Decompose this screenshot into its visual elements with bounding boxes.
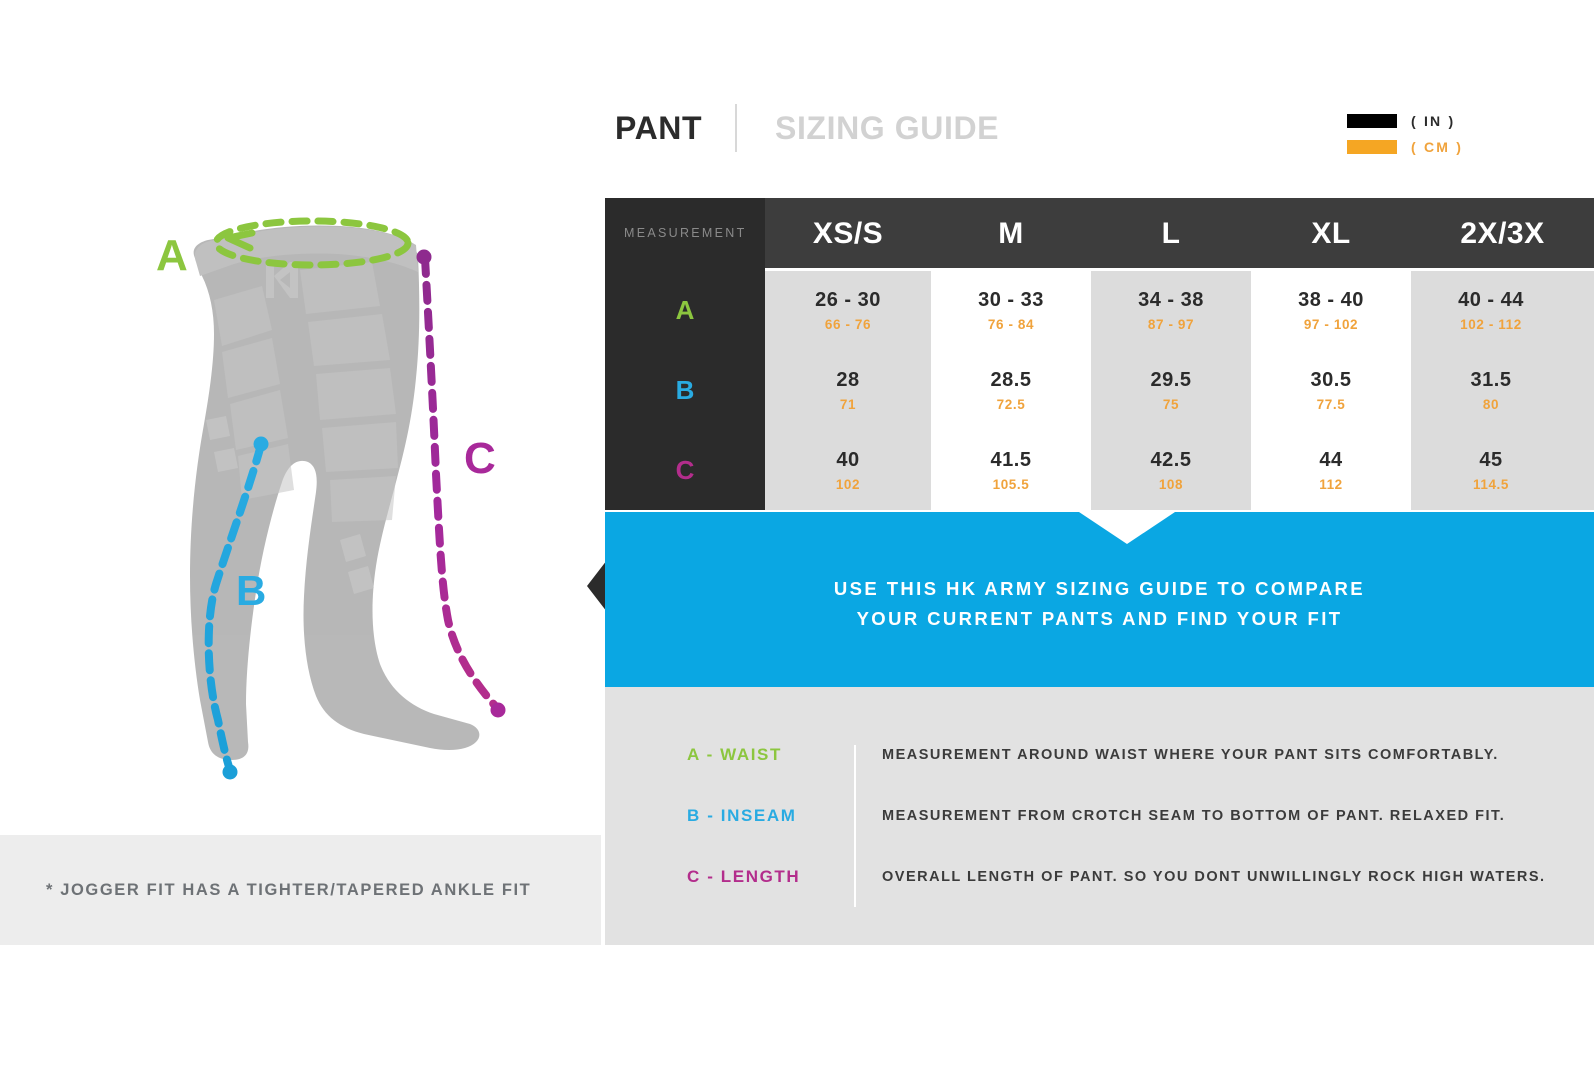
jogger-fit-footnote: * JOGGER FIT HAS A TIGHTER/TAPERED ANKLE… xyxy=(46,881,531,900)
cell-c-m: 41.5 105.5 xyxy=(931,430,1091,510)
inches-label: ( IN ) xyxy=(1411,113,1455,129)
description-text-a: MEASUREMENT AROUND WAIST WHERE YOUR PANT… xyxy=(882,747,1499,763)
diagram-letter-b: B xyxy=(236,570,266,612)
cell-value-cm: 105.5 xyxy=(993,478,1030,492)
size-header-2x-3x: 2X/3X xyxy=(1411,198,1594,270)
cell-value-in: 34 - 38 xyxy=(1138,289,1204,311)
size-chart-table: XS/S M L XL 2X/3X MEASUREMENT A B C 26 -… xyxy=(605,198,1594,510)
pant-diagram: A B C xyxy=(0,0,601,835)
cell-value-cm: 71 xyxy=(840,398,856,412)
centimeters-swatch xyxy=(1347,140,1397,154)
description-text-b: MEASUREMENT FROM CROTCH SEAM TO BOTTOM O… xyxy=(882,808,1505,824)
size-header-xs-s: XS/S xyxy=(765,198,931,270)
cell-value-in: 29.5 xyxy=(1151,369,1192,391)
footnote-panel: * JOGGER FIT HAS A TIGHTER/TAPERED ANKLE… xyxy=(0,835,601,945)
length-measure-line xyxy=(417,250,506,718)
cell-a-2x-3x: 40 - 44 102 - 112 xyxy=(1411,270,1571,350)
cell-value-in: 42.5 xyxy=(1151,449,1192,471)
centimeters-label: ( CM ) xyxy=(1411,139,1463,155)
legend-row-inches: ( IN ) xyxy=(1347,110,1547,132)
size-header-m: M xyxy=(931,198,1091,270)
description-key-c: C - LENGTH xyxy=(687,867,800,887)
diagram-letter-a: A xyxy=(156,234,188,278)
cell-a-l: 34 - 38 87 - 97 xyxy=(1091,270,1251,350)
cell-value-cm: 108 xyxy=(1159,478,1183,492)
description-key-a: A - WAIST xyxy=(687,745,782,765)
description-text-c: OVERALL LENGTH OF PANT. SO YOU DONT UNWI… xyxy=(882,869,1546,885)
cell-b-xl: 30.5 77.5 xyxy=(1251,350,1411,430)
row-label-a: A xyxy=(605,270,765,350)
size-header-xl: XL xyxy=(1251,198,1411,270)
pant-graphic xyxy=(0,0,601,835)
cell-value-in: 28.5 xyxy=(991,369,1032,391)
cell-value-cm: 97 - 102 xyxy=(1304,318,1358,332)
cell-a-xs-s: 26 - 30 66 - 76 xyxy=(765,270,931,350)
cell-value-in: 30 - 33 xyxy=(978,289,1044,311)
cell-value-in: 38 - 40 xyxy=(1298,289,1364,311)
table-left-notch-icon xyxy=(587,560,607,612)
cell-value-cm: 66 - 76 xyxy=(825,318,871,332)
page-subtitle: SIZING GUIDE xyxy=(775,110,999,147)
cell-value-cm: 76 - 84 xyxy=(988,318,1034,332)
cell-b-xs-s: 28 71 xyxy=(765,350,931,430)
left-panel-bottom-spacer xyxy=(0,945,601,1080)
cell-value-cm: 112 xyxy=(1319,478,1343,492)
cell-c-l: 42.5 108 xyxy=(1091,430,1251,510)
cell-value-cm: 72.5 xyxy=(997,398,1026,412)
cell-value-cm: 77.5 xyxy=(1317,398,1346,412)
cell-c-xl: 44 112 xyxy=(1251,430,1411,510)
cell-value-in: 26 - 30 xyxy=(815,289,881,311)
measurement-column-label: MEASUREMENT xyxy=(624,226,747,240)
description-row-waist: A - WAIST MEASUREMENT AROUND WAIST WHERE… xyxy=(605,745,1594,805)
description-row-length: C - LENGTH OVERALL LENGTH OF PANT. SO YO… xyxy=(605,867,1594,927)
description-key-b: B - INSEAM xyxy=(687,806,797,826)
banner-top-notch-icon xyxy=(1079,512,1175,544)
instruction-banner: USE THIS HK ARMY SIZING GUIDE TO COMPARE… xyxy=(605,512,1594,687)
right-panel-bottom-spacer xyxy=(605,945,1594,1080)
legend-row-centimeters: ( CM ) xyxy=(1347,136,1547,158)
description-row-inseam: B - INSEAM MEASUREMENT FROM CROTCH SEAM … xyxy=(605,806,1594,866)
size-header-l: L xyxy=(1091,198,1251,270)
cell-value-cm: 75 xyxy=(1163,398,1179,412)
banner-line-1: USE THIS HK ARMY SIZING GUIDE TO COMPARE xyxy=(605,574,1594,604)
sizing-guide-panel: PANT SIZING GUIDE ( IN ) ( CM ) XS/S M L… xyxy=(601,0,1594,1080)
cell-value-in: 28 xyxy=(836,369,859,391)
measurement-descriptions: A - WAIST MEASUREMENT AROUND WAIST WHERE… xyxy=(605,687,1594,945)
cell-value-in: 30.5 xyxy=(1311,369,1352,391)
cell-value-in: 44 xyxy=(1319,449,1342,471)
cell-value-cm: 87 - 97 xyxy=(1148,318,1194,332)
instruction-banner-text: USE THIS HK ARMY SIZING GUIDE TO COMPARE… xyxy=(605,574,1594,634)
cell-c-xs-s: 40 102 xyxy=(765,430,931,510)
cell-c-2x-3x: 45 114.5 xyxy=(1411,430,1571,510)
cell-b-l: 29.5 75 xyxy=(1091,350,1251,430)
cell-b-m: 28.5 72.5 xyxy=(931,350,1091,430)
cell-value-in: 45 xyxy=(1479,449,1502,471)
cell-value-in: 41.5 xyxy=(991,449,1032,471)
guide-header: PANT SIZING GUIDE ( IN ) ( CM ) xyxy=(601,96,1594,176)
cell-a-xl: 38 - 40 97 - 102 xyxy=(1251,270,1411,350)
row-label-b: B xyxy=(605,350,765,430)
cell-value-cm: 80 xyxy=(1483,398,1499,412)
cell-value-in: 40 - 44 xyxy=(1458,289,1524,311)
diagram-letter-c: C xyxy=(464,437,496,481)
cell-value-cm: 114.5 xyxy=(1473,478,1509,492)
banner-line-2: YOUR CURRENT PANTS AND FIND YOUR FIT xyxy=(605,604,1594,634)
cell-value-in: 31.5 xyxy=(1471,369,1512,391)
inches-swatch xyxy=(1347,114,1397,128)
cell-value-cm: 102 xyxy=(836,478,860,492)
title-divider xyxy=(735,104,737,152)
cell-value-cm: 102 - 112 xyxy=(1460,318,1522,332)
cell-b-2x-3x: 31.5 80 xyxy=(1411,350,1571,430)
pant-illustration-panel: A B C * JOGGER FIT HAS A TIGHTER/TAPERED… xyxy=(0,0,601,1080)
unit-legend: ( IN ) ( CM ) xyxy=(1347,110,1547,162)
cell-value-in: 40 xyxy=(836,449,859,471)
row-label-c: C xyxy=(605,430,765,510)
page-title: PANT xyxy=(615,110,702,147)
cell-a-m: 30 - 33 76 - 84 xyxy=(931,270,1091,350)
